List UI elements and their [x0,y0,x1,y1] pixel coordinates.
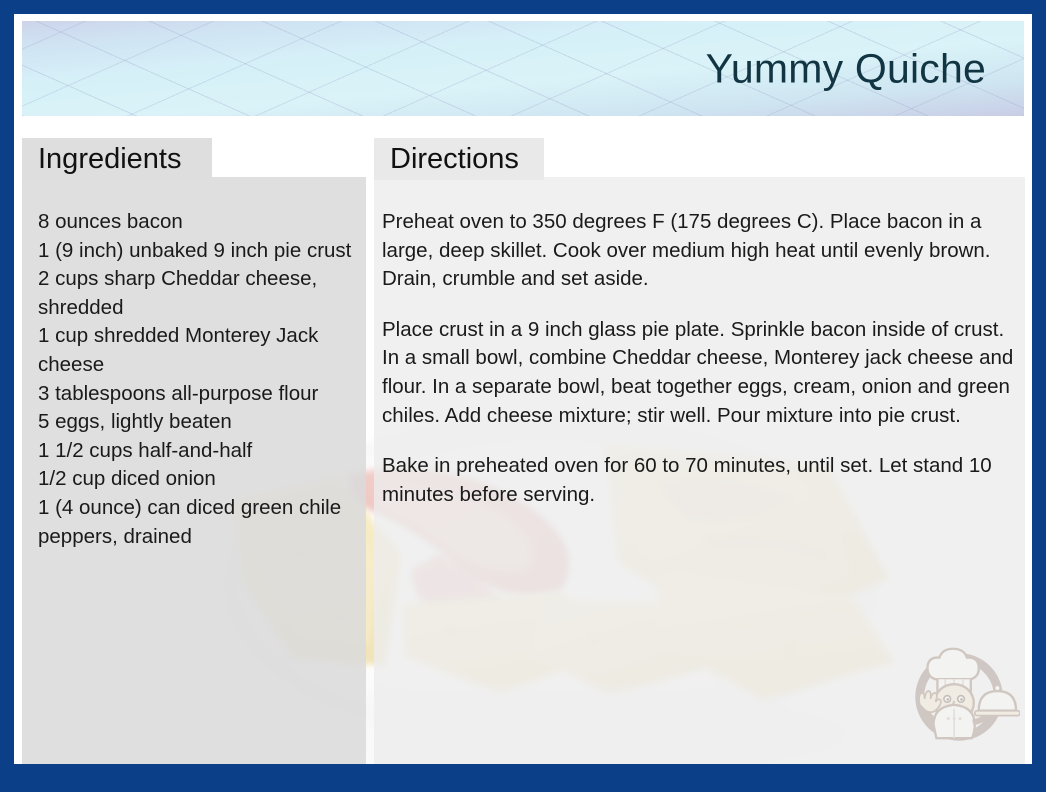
tab-directions[interactable]: Directions [374,138,544,180]
title-banner: Yummy Quiche [22,21,1024,116]
ingredients-list: 8 ounces bacon 1 (9 inch) unbaked 9 inch… [38,208,368,551]
direction-step: Preheat oven to 350 degrees F (175 degre… [382,208,1024,294]
direction-step: Place crust in a 9 inch glass pie plate.… [382,316,1024,430]
direction-step: Bake in preheated oven for 60 to 70 minu… [382,452,1024,509]
page-title: Yummy Quiche [706,45,986,92]
recipe-card: Yummy Quiche Ingredients 8 ounces bacon … [0,0,1046,792]
recipe-page: Yummy Quiche Ingredients 8 ounces bacon … [14,14,1032,764]
tab-ingredients-label: Ingredients [38,145,182,174]
tab-directions-label: Directions [390,145,519,174]
tab-ingredients[interactable]: Ingredients [22,138,212,180]
directions-body: Preheat oven to 350 degrees F (175 degre… [382,208,1024,509]
